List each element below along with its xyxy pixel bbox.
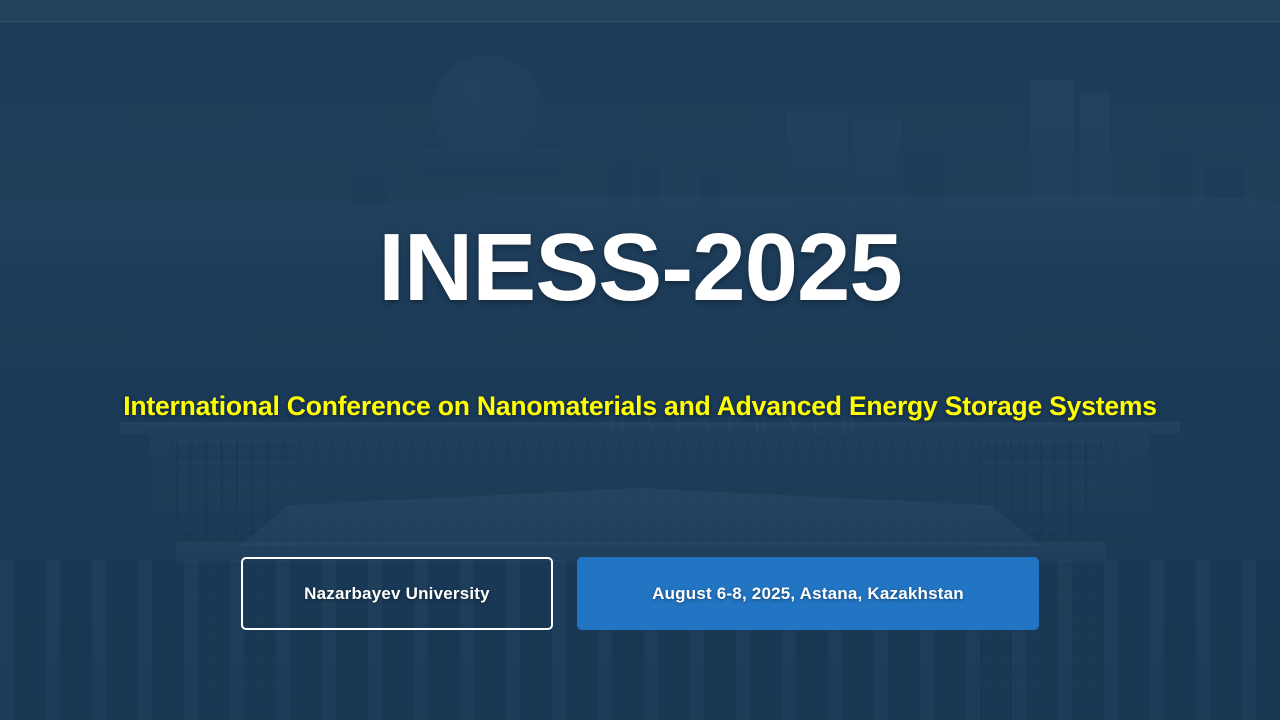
hero-content: INESS-2025 International Conference on N… bbox=[0, 0, 1280, 720]
date-location-button[interactable]: August 6-8, 2025, Astana, Kazakhstan bbox=[577, 557, 1039, 630]
organizer-button[interactable]: Nazarbayev University bbox=[241, 557, 553, 630]
hero-button-row: Nazarbayev University August 6-8, 2025, … bbox=[0, 557, 1280, 630]
page-title: INESS-2025 bbox=[0, 218, 1280, 319]
hero-banner: НАЗАРБАЕВ УНИВЕРСИТЕТI INESS-2025 Intern… bbox=[0, 0, 1280, 720]
conference-subtitle: International Conference on Nanomaterial… bbox=[0, 390, 1280, 423]
